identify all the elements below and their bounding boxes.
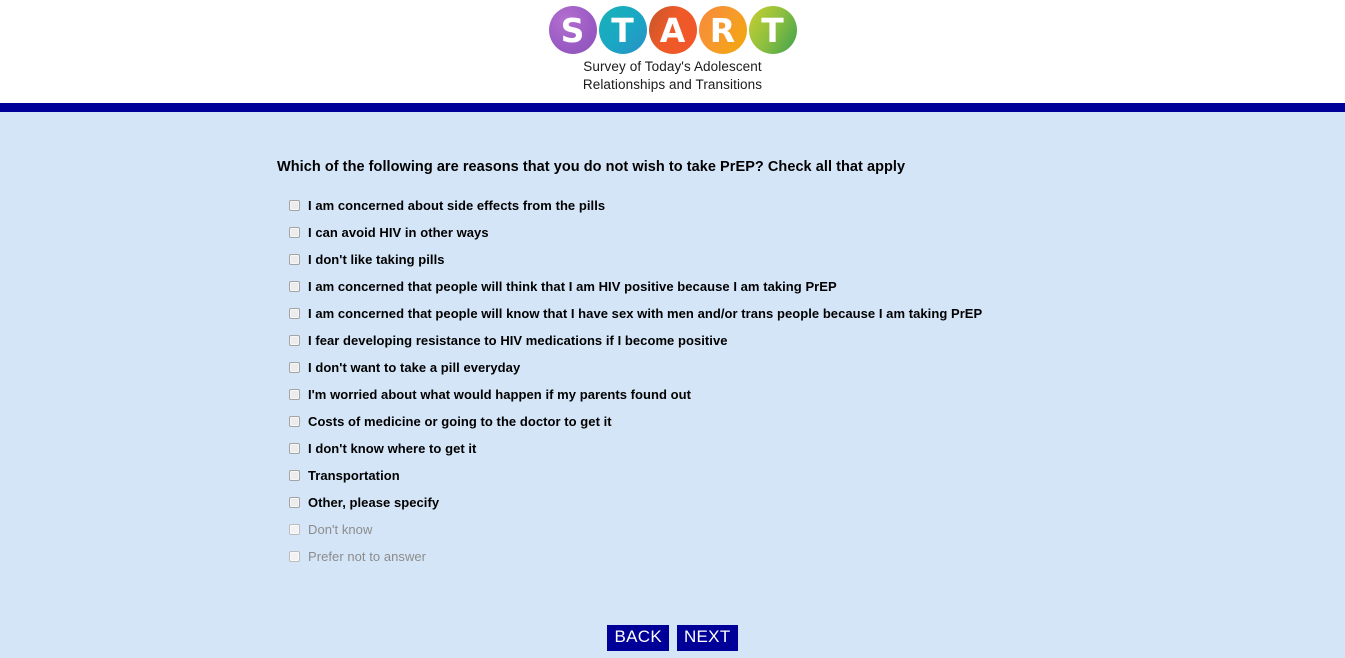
checkbox-icon[interactable] [289, 470, 300, 481]
checkbox-option-label: Don't know [308, 522, 372, 537]
checkbox-icon[interactable] [289, 254, 300, 265]
checkbox-option-label: I am concerned that people will think th… [308, 279, 837, 294]
checkbox-icon[interactable] [289, 362, 300, 373]
survey-content: Which of the following are reasons that … [0, 112, 1345, 658]
checkbox-option-label: Other, please specify [308, 495, 439, 510]
start-logo: S T A R T Survey of Today's Adolescent R… [549, 6, 797, 93]
tagline-line-1: Survey of Today's Adolescent [549, 58, 797, 76]
checkbox-option-label: I don't want to take a pill everyday [308, 360, 520, 375]
checkbox-icon[interactable] [289, 497, 300, 508]
checkbox-icon[interactable] [289, 281, 300, 292]
navigation-buttons: BACK NEXT [0, 625, 1345, 651]
page-header: S T A R T Survey of Today's Adolescent R… [0, 0, 1345, 103]
checkbox-option-row[interactable]: Costs of medicine or going to the doctor… [289, 408, 982, 435]
logo-circle-t: T [599, 6, 647, 54]
checkbox-option-row[interactable]: I fear developing resistance to HIV medi… [289, 327, 982, 354]
checkbox-icon[interactable] [289, 335, 300, 346]
checkbox-option-row[interactable]: Transportation [289, 462, 982, 489]
checkbox-icon[interactable] [289, 308, 300, 319]
checkbox-option-label: I don't know where to get it [308, 441, 476, 456]
next-button[interactable]: NEXT [677, 625, 738, 651]
checkbox-option-label: Costs of medicine or going to the doctor… [308, 414, 612, 429]
logo-circle-s: S [549, 6, 597, 54]
checkbox-option-row[interactable]: I can avoid HIV in other ways [289, 219, 982, 246]
checkbox-option-row: Prefer not to answer [289, 543, 982, 570]
checkbox-option-row[interactable]: I don't like taking pills [289, 246, 982, 273]
checkbox-option-row[interactable]: Other, please specify [289, 489, 982, 516]
checkbox-option-label: I fear developing resistance to HIV medi… [308, 333, 728, 348]
checkbox-icon[interactable] [289, 200, 300, 211]
header-divider-bar [0, 103, 1345, 112]
checkbox-option-label: Prefer not to answer [308, 549, 426, 564]
checkbox-option-row: Don't know [289, 516, 982, 543]
checkbox-option-row[interactable]: I am concerned that people will know tha… [289, 300, 982, 327]
logo-tagline: Survey of Today's Adolescent Relationshi… [549, 58, 797, 93]
checkbox-option-label: I don't like taking pills [308, 252, 445, 267]
logo-circle-t2: T [749, 6, 797, 54]
tagline-line-2: Relationships and Transitions [549, 76, 797, 94]
checkbox-icon[interactable] [289, 416, 300, 427]
checkbox-option-label: Transportation [308, 468, 400, 483]
checkbox-option-label: I am concerned about side effects from t… [308, 198, 605, 213]
checkbox-option-label: I am concerned that people will know tha… [308, 306, 982, 321]
checkbox-option-label: I can avoid HIV in other ways [308, 225, 489, 240]
checkbox-icon[interactable] [289, 443, 300, 454]
question-text: Which of the following are reasons that … [277, 159, 905, 175]
checkbox-option-row[interactable]: I am concerned about side effects from t… [289, 192, 982, 219]
checkbox-option-label: I'm worried about what would happen if m… [308, 387, 691, 402]
logo-circle-r: R [699, 6, 747, 54]
checkbox-option-row[interactable]: I don't want to take a pill everyday [289, 354, 982, 381]
checkbox-icon [289, 524, 300, 535]
checkbox-icon[interactable] [289, 389, 300, 400]
checkbox-option-row[interactable]: I don't know where to get it [289, 435, 982, 462]
logo-circle-a: A [649, 6, 697, 54]
checkbox-option-list: I am concerned about side effects from t… [289, 192, 982, 570]
checkbox-icon [289, 551, 300, 562]
checkbox-option-row[interactable]: I am concerned that people will think th… [289, 273, 982, 300]
checkbox-icon[interactable] [289, 227, 300, 238]
checkbox-option-row[interactable]: I'm worried about what would happen if m… [289, 381, 982, 408]
back-button[interactable]: BACK [607, 625, 669, 651]
logo-letters: S T A R T [549, 6, 797, 54]
